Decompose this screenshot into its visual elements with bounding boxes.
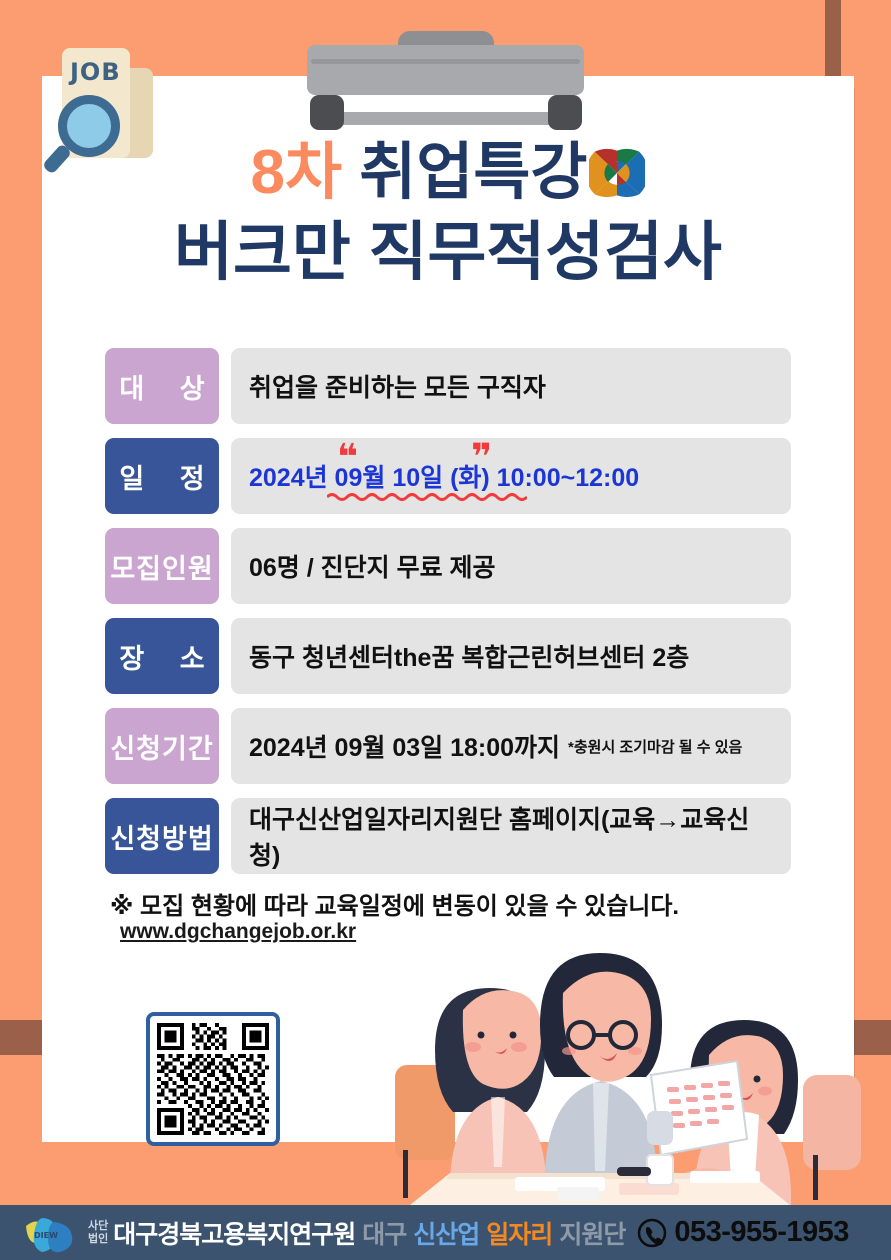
title-main: 취업특강 [359, 138, 587, 207]
row-value-application-method: 대구신산업일자리지원단 홈페이지(교육→교육신청) [231, 798, 791, 874]
job-label: JOB [70, 58, 121, 86]
row-value-target: 취업을 준비하는 모든 구직자 [231, 348, 791, 424]
footer-bar: DIEW 사단 법인 대구경북고용복지연구원 대구 신산업 일자리 지원단 05… [0, 1205, 891, 1260]
table-row: 신청기간 2024년 09월 03일 18:00까지 *충원시 조기마감 될 수… [105, 708, 791, 784]
row-label-schedule: 일 정 [105, 438, 219, 514]
svg-text:DIEW: DIEW [34, 1231, 58, 1240]
row-label-text: 장 소 [105, 637, 218, 676]
row-value-location: 동구 청년센터the꿈 복합근린허브센터 2층 [231, 618, 791, 694]
qr-code[interactable] [146, 1012, 280, 1146]
poster-root: JOB 8차 취업특강 버크만 직무적성검사 [0, 0, 891, 1260]
chair-right [803, 1075, 861, 1170]
row-label-capacity: 모집인원 [105, 528, 219, 604]
info-table: 대 상 취업을 준비하는 모든 구직자 일 정 ❝ ❞ 2024년 09월 10… [105, 348, 791, 888]
person-left [435, 988, 546, 1205]
pinwheel-logo-icon [589, 145, 645, 213]
chair-leg-left [403, 1150, 408, 1198]
footer-tag-daegu: 대구 [362, 1215, 406, 1251]
clipboard-clamp-foot-right [548, 95, 582, 130]
diew-logo-icon: DIEW [22, 1212, 84, 1254]
row-label-text: 신청방법 [110, 817, 213, 856]
table-row: 신청방법 대구신산업일자리지원단 홈페이지(교육→교육신청) [105, 798, 791, 874]
table-row: 일 정 ❝ ❞ 2024년 09월 10일 (화) 10:00~12:00 [105, 438, 791, 514]
row-label-text: 대 상 [105, 367, 218, 406]
footer-tag-jobs: 일자리 [486, 1215, 552, 1251]
corp-line-1: 사단 [88, 1220, 108, 1233]
footer-tag-support-group: 지원단 [559, 1215, 625, 1251]
quote-close-icon: ❞ [471, 440, 492, 476]
people-meeting-illustration [395, 915, 865, 1205]
schedule-text: 2024년 09월 10일 (화) 10:00~12:00 [249, 458, 639, 494]
row-value-application-period: 2024년 09월 03일 18:00까지 *충원시 조기마감 될 수 있음 [231, 708, 791, 784]
table-row: 대 상 취업을 준비하는 모든 구직자 [105, 348, 791, 424]
quote-open-icon: ❝ [337, 440, 358, 476]
red-squiggle-underline [327, 492, 527, 502]
row-label-location: 장 소 [105, 618, 219, 694]
row-label-text: 모집인원 [110, 547, 213, 586]
organization-name: 대구경북고용복지연구원 [113, 1215, 355, 1251]
row-label-application-method: 신청방법 [105, 798, 219, 874]
row-value-capacity: 06명 / 진단지 무료 제공 [231, 528, 791, 604]
row-label-text: 신청기간 [110, 727, 213, 766]
application-deadline-text: 2024년 09월 03일 18:00까지 [249, 728, 560, 764]
poster-title: 8차 취업특강 버크만 직무적성검사 [42, 140, 854, 286]
row-label-text: 일 정 [105, 457, 218, 496]
clipboard-clamp-bar [307, 45, 584, 95]
title-highlight: 8차 [251, 138, 343, 207]
phone-icon [637, 1218, 667, 1248]
document-held [647, 1061, 747, 1155]
clipboard-clamp-foot-left [310, 95, 344, 130]
phone-number: 053-955-1953 [674, 1216, 849, 1249]
footer-tag-new-industry: 신산업 [413, 1215, 479, 1251]
chair-leg-right [813, 1155, 818, 1200]
clipboard-clamp-crossbar [336, 112, 558, 125]
table-row: 모집인원 06명 / 진단지 무료 제공 [105, 528, 791, 604]
title-line-2: 버크만 직무적성검사 [42, 219, 854, 286]
title-line-1: 8차 취업특강 [42, 140, 854, 213]
row-label-application-period: 신청기간 [105, 708, 219, 784]
table-row: 장 소 동구 청년센터the꿈 복합근린허브센터 2층 [105, 618, 791, 694]
qr-code-image [157, 1023, 269, 1135]
row-value-schedule: ❝ ❞ 2024년 09월 10일 (화) 10:00~12:00 [231, 438, 791, 514]
corp-line-2: 법인 [88, 1233, 108, 1246]
corporation-prefix: 사단 법인 [88, 1220, 108, 1245]
application-deadline-note: *충원시 조기마감 될 수 있음 [568, 736, 742, 757]
website-link[interactable]: www.dgchangejob.or.kr [120, 920, 356, 944]
row-label-target: 대 상 [105, 348, 219, 424]
